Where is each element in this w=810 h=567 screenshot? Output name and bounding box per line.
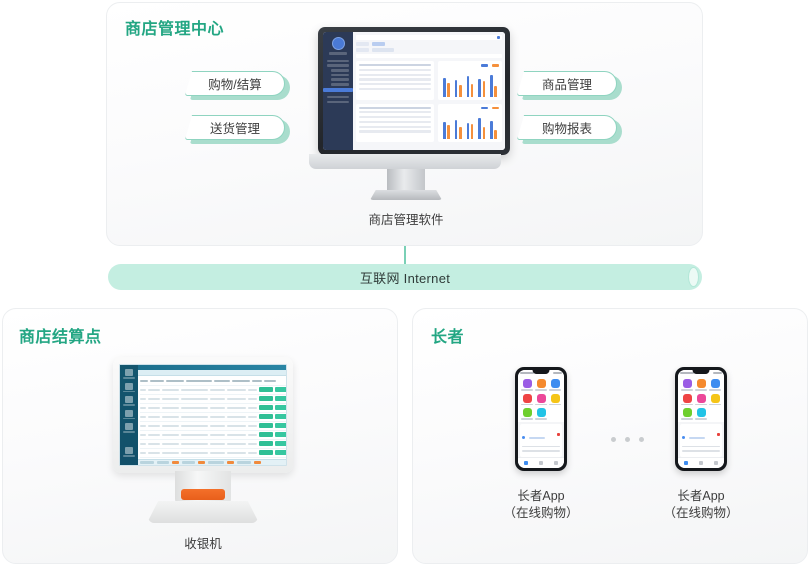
pos-row-action-button[interactable] (275, 396, 287, 401)
shopping-report-button[interactable]: 购物报表 (517, 115, 621, 142)
phone-app-grid (678, 376, 724, 422)
dashboard-menu-item-active (323, 88, 353, 92)
phone-tab-bar (678, 457, 724, 468)
phone-caption-line1: 长者App (481, 488, 601, 505)
pos-table-row (140, 449, 287, 458)
pos-row-action-button[interactable] (259, 405, 273, 410)
elder-phone-2: 长者App （在线购物） (641, 367, 761, 522)
pos-sidebar-icon (125, 383, 133, 390)
dashboard-chart-card (438, 104, 502, 143)
dashboard-tabs (356, 42, 502, 46)
phone-device (675, 367, 727, 471)
legend-swatch-blue (481, 64, 488, 67)
pos-row-action-button[interactable] (275, 405, 287, 410)
phone-caption-1: 长者App （在线购物） (481, 488, 601, 522)
legend-swatch-blue (481, 107, 488, 110)
pos-sidebar-icon (125, 423, 133, 430)
chart-legend (441, 64, 499, 67)
app-icon-tile-empty (549, 408, 561, 420)
pos-table-row (140, 386, 287, 395)
phone-tab-home[interactable] (524, 461, 528, 465)
phone-caption-line2: （在线购物） (481, 505, 601, 522)
legend-swatch-orange (492, 64, 499, 67)
pos-row-action-button[interactable] (275, 432, 287, 437)
pos-table-row (140, 440, 287, 449)
notice-title (689, 437, 705, 439)
pos-sidebar-label (123, 404, 135, 406)
notice-icon (682, 436, 685, 439)
pos-status-highlight (227, 461, 234, 464)
shopping-checkout-label: 购物/结算 (185, 71, 285, 96)
monitor-stand-neck (387, 169, 425, 191)
phone-tab-bar (518, 457, 564, 468)
dashboard-tab-active (372, 42, 385, 46)
dashboard-menu-item (327, 64, 349, 67)
pos-content (138, 365, 287, 465)
dashboard-topbar (356, 35, 502, 40)
pos-sidebar-label (123, 377, 135, 379)
app-icon-tile[interactable] (695, 379, 707, 391)
phone-notice-header (682, 426, 720, 444)
pos-status-bar (138, 459, 287, 465)
notice-badge (557, 433, 560, 436)
pos-bezel (113, 357, 293, 473)
pos-screen (119, 364, 287, 466)
phone-tab-home[interactable] (684, 461, 688, 465)
pos-sidebar-label (123, 391, 135, 393)
pos-order-table (138, 376, 287, 459)
pos-panel-title: 商店结算点 (19, 323, 102, 347)
app-icon-tile[interactable] (709, 394, 721, 406)
legend-swatch-orange (492, 107, 499, 110)
dashboard-subtab (372, 48, 394, 52)
phone-notice-card (520, 424, 562, 457)
pos-row-action-button[interactable] (259, 441, 273, 446)
app-icon-tile[interactable] (681, 408, 693, 420)
table-row (359, 130, 431, 132)
phone-caption-line1: 长者App (641, 488, 761, 505)
left-feature-button-group: 购物/结算 送货管理 (185, 71, 289, 159)
pos-sidebar-icon (125, 396, 133, 403)
product-management-button[interactable]: 商品管理 (517, 71, 621, 98)
table-row (359, 78, 431, 80)
delivery-management-label: 送货管理 (185, 115, 285, 140)
notice-icon (522, 436, 525, 439)
pos-status-highlight (198, 461, 205, 464)
store-management-center-panel: 商店管理中心 购物/结算 送货管理 商品管理 购物报表 (106, 2, 703, 246)
dashboard-table-card (356, 104, 434, 143)
pos-card-reader-slot (181, 489, 225, 500)
pos-status-highlight (172, 461, 179, 464)
table-row (359, 83, 431, 85)
pos-row-action-button[interactable] (275, 450, 287, 455)
monitor-bezel (318, 27, 510, 155)
dashboard-filter-bar (356, 54, 502, 58)
right-feature-button-group: 商品管理 购物报表 (517, 71, 621, 159)
internet-bar-end-cap (688, 267, 699, 287)
app-icon-tile[interactable] (521, 408, 533, 420)
app-icon-tile[interactable] (681, 394, 693, 406)
phone-tab-contacts[interactable] (699, 461, 703, 465)
pos-row-action-button[interactable] (275, 414, 287, 419)
monitor-screen (323, 32, 505, 150)
dashboard-content (353, 32, 505, 150)
dot (625, 437, 630, 442)
dashboard-menu-item (327, 96, 349, 99)
pos-row-action-button[interactable] (275, 423, 287, 428)
pos-caption: 收银机 (103, 533, 303, 552)
pos-sidebar-icon (125, 369, 133, 376)
pos-sidebar-label (123, 455, 135, 457)
internet-connector-line (404, 246, 406, 264)
pos-sidebar-label (123, 431, 135, 433)
pos-table-row (140, 431, 287, 440)
pos-table-row (140, 413, 287, 422)
dashboard-subtabs (356, 48, 502, 52)
table-row (359, 88, 431, 90)
app-icon-tile[interactable] (521, 394, 533, 406)
internet-bar: 互联网 Internet (108, 264, 702, 290)
phone-tab-contacts[interactable] (539, 461, 543, 465)
store-checkout-point-panel: 商店结算点 (2, 308, 398, 564)
app-icon-tile[interactable] (709, 379, 721, 391)
dashboard-menu-subitem (331, 69, 349, 72)
dashboard-menu-subitem (331, 74, 349, 77)
pos-stand-base (147, 501, 259, 523)
app-icon-tile[interactable] (535, 394, 547, 406)
monitor-stand-base (370, 190, 442, 200)
product-management-label: 商品管理 (517, 71, 617, 96)
app-icon-tile[interactable] (535, 379, 547, 391)
pos-row-action-button[interactable] (259, 450, 273, 455)
dashboard-menu-subitem (331, 78, 349, 81)
phone-notice-card (680, 424, 722, 457)
app-icon-tile[interactable] (695, 408, 707, 420)
table-row (359, 126, 431, 128)
phone-ellipsis-dots (611, 437, 644, 442)
internet-label: 互联网 Internet (360, 268, 450, 287)
table-row (359, 121, 431, 123)
phone-notice-line (682, 446, 720, 448)
notice-title (529, 437, 545, 439)
phone-caption-2: 长者App （在线购物） (641, 488, 761, 522)
pos-row-action-button[interactable] (259, 387, 273, 392)
dashboard-sidebar-username (329, 52, 347, 55)
pos-table-header (140, 377, 287, 386)
chart-legend (441, 107, 499, 110)
phone-screen (518, 370, 564, 468)
dashboard-menu-item (327, 60, 349, 63)
pos-row-action-button[interactable] (259, 414, 273, 419)
phone-app-grid (518, 376, 564, 422)
top-panel-title: 商店管理中心 (125, 15, 224, 39)
table-row (359, 116, 431, 118)
phone-caption-line2: （在线购物） (641, 505, 761, 522)
phone-notice-line (522, 450, 560, 452)
pos-row-action-button[interactable] (275, 387, 287, 392)
bar-chart (441, 110, 499, 139)
app-icon-tile-empty (709, 408, 721, 420)
dashboard-tab (356, 42, 369, 46)
pos-row-action-button[interactable] (275, 441, 287, 446)
app-icon-tile[interactable] (549, 394, 561, 406)
dashboard-chart-card (438, 61, 502, 100)
pos-terminal-illustration: 收银机 (113, 349, 293, 547)
notice-badge (717, 433, 720, 436)
delivery-management-button[interactable]: 送货管理 (185, 115, 289, 142)
app-icon-tile[interactable] (549, 379, 561, 391)
phone-tab-profile[interactable] (714, 461, 718, 465)
pos-table-row (140, 422, 287, 431)
shopping-checkout-button[interactable]: 购物/结算 (185, 71, 289, 98)
pos-table-row (140, 395, 287, 404)
dashboard-table-card (356, 61, 434, 100)
pos-sidebar-icon (125, 410, 133, 417)
dashboard-avatar-icon (332, 37, 345, 50)
table-header-row (359, 107, 431, 109)
phone-tab-profile[interactable] (554, 461, 558, 465)
pos-sidebar-icon (125, 447, 133, 454)
phone-screen (678, 370, 724, 468)
phone-notice-line (522, 446, 560, 448)
dashboard-subtab (356, 48, 369, 52)
dashboard-menu-item (327, 101, 349, 104)
elder-users-panel: 长者 (412, 308, 808, 564)
pos-status-highlight (254, 461, 261, 464)
dashboard-sidebar (323, 32, 353, 150)
pos-row-action-button[interactable] (259, 423, 273, 428)
pos-row-action-button[interactable] (259, 396, 273, 401)
pos-row-action-button[interactable] (259, 432, 273, 437)
app-icon-tile[interactable] (521, 379, 533, 391)
phone-device (515, 367, 567, 471)
dashboard-row (356, 104, 502, 143)
pos-sidebar-label (123, 418, 135, 420)
monitor-caption: 商店管理软件 (304, 209, 508, 228)
dot (611, 437, 616, 442)
dashboard-menu-subitem (331, 83, 349, 86)
app-icon-tile[interactable] (681, 379, 693, 391)
pos-sidebar (120, 365, 138, 465)
table-header-row (359, 64, 431, 66)
bar-chart (441, 68, 499, 97)
elder-panel-title: 长者 (431, 323, 464, 347)
shopping-report-label: 购物报表 (517, 115, 617, 140)
elder-phone-1: 长者App （在线购物） (481, 367, 601, 522)
app-icon-tile[interactable] (695, 394, 707, 406)
dashboard-row (356, 61, 502, 100)
table-row (359, 111, 431, 113)
phone-notice-header (522, 426, 560, 444)
desktop-monitor-illustration: 商店管理软件 (304, 27, 508, 217)
phone-notice-line (682, 450, 720, 452)
table-row (359, 74, 431, 76)
table-row (359, 69, 431, 71)
monitor-chin (309, 154, 501, 169)
app-icon-tile[interactable] (535, 408, 547, 420)
pos-table-row (140, 404, 287, 413)
